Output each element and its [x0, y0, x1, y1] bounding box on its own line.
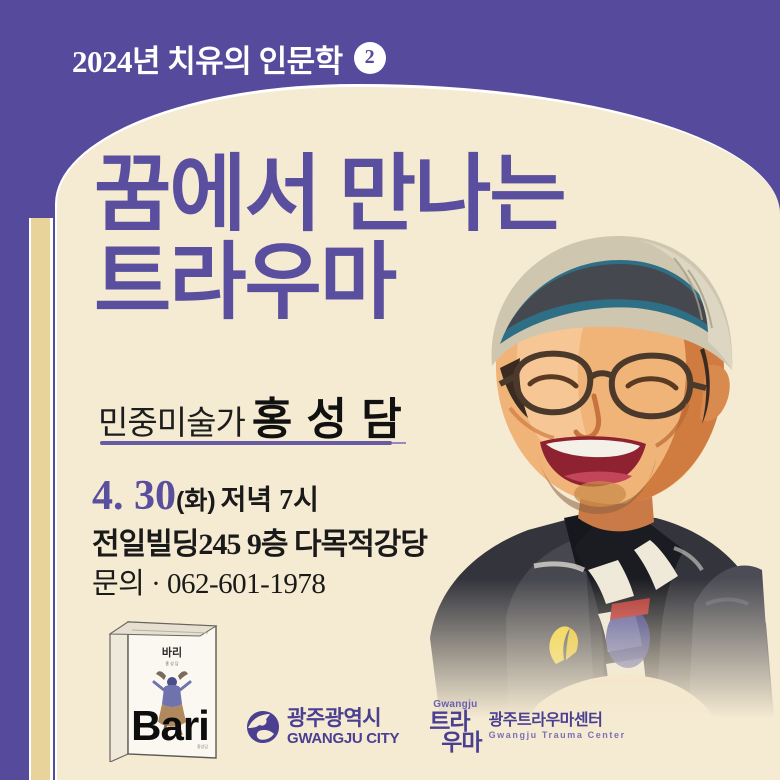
series-title: 2024년 치유의 인문학 — [72, 36, 343, 81]
gwangju-city-en: GWANGJU CITY — [287, 731, 399, 746]
svg-text:Bari: Bari — [131, 702, 209, 749]
event-time: 저녁 7시 — [221, 485, 319, 516]
book-spine-accent — [29, 218, 53, 780]
event-date: 4. 30 — [92, 473, 176, 519]
sponsor-logos: 광주광역시 GWANGJU CITY Gwangju 트라 우마 광주트라우마센… — [246, 700, 626, 753]
trauma-center-ko: 광주트라우마센터 — [489, 713, 626, 729]
trauma-center-mark-line2: 우마 — [441, 732, 481, 753]
event-venue: 전일빌딩245 9층 다목적강당 — [92, 526, 427, 564]
speaker-line: 민중미술가 홍 성 담 — [98, 383, 403, 447]
logo-trauma-center: Gwangju 트라 우마 광주트라우마센터 Gwangju Trauma Ce… — [429, 700, 625, 753]
event-poster: 2024년 치유의 인문학 2 — [0, 0, 780, 780]
svg-text:홍성담: 홍성담 — [197, 743, 208, 749]
speaker-name: 홍 성 담 — [252, 383, 403, 447]
svg-text:홍 성 담: 홍 성 담 — [165, 660, 179, 666]
book-cover-image: 바리 홍 성 담 Bari 홍성담 — [104, 612, 226, 762]
title-line-2: 트라우마 — [94, 243, 565, 325]
svg-text:바리: 바리 — [162, 645, 182, 659]
trauma-center-en: Gwangju Trauma Center — [489, 731, 626, 740]
event-datetime-row: 4. 30(화)저녁 7시 — [92, 470, 427, 524]
trauma-center-mark: Gwangju 트라 우마 — [429, 700, 481, 753]
title-line-1: 꿈에서 만나는 — [94, 155, 565, 237]
trauma-center-wordmark: 광주트라우마센터 Gwangju Trauma Center — [489, 713, 626, 740]
event-contact: 문의 · 062-601-1978 — [92, 566, 427, 603]
episode-badge: 2 — [354, 42, 386, 74]
speaker-underline — [100, 441, 392, 445]
event-details: 4. 30(화)저녁 7시 전일빌딩245 9층 다목적강당 문의 · 062-… — [92, 470, 427, 603]
speaker-role: 민중미술가 — [98, 396, 245, 444]
gwangju-city-ko: 광주광역시 — [287, 708, 399, 729]
event-weekday: (화) — [176, 487, 216, 515]
logo-gwangju-city: 광주광역시 GWANGJU CITY — [246, 708, 399, 746]
poster-header: 2024년 치유의 인문학 2 — [0, 28, 780, 88]
poster-title: 꿈에서 만나는 트라우마 — [94, 155, 565, 326]
gwangju-city-wordmark: 광주광역시 GWANGJU CITY — [287, 708, 399, 746]
gwangju-city-emblem-icon — [246, 710, 280, 744]
